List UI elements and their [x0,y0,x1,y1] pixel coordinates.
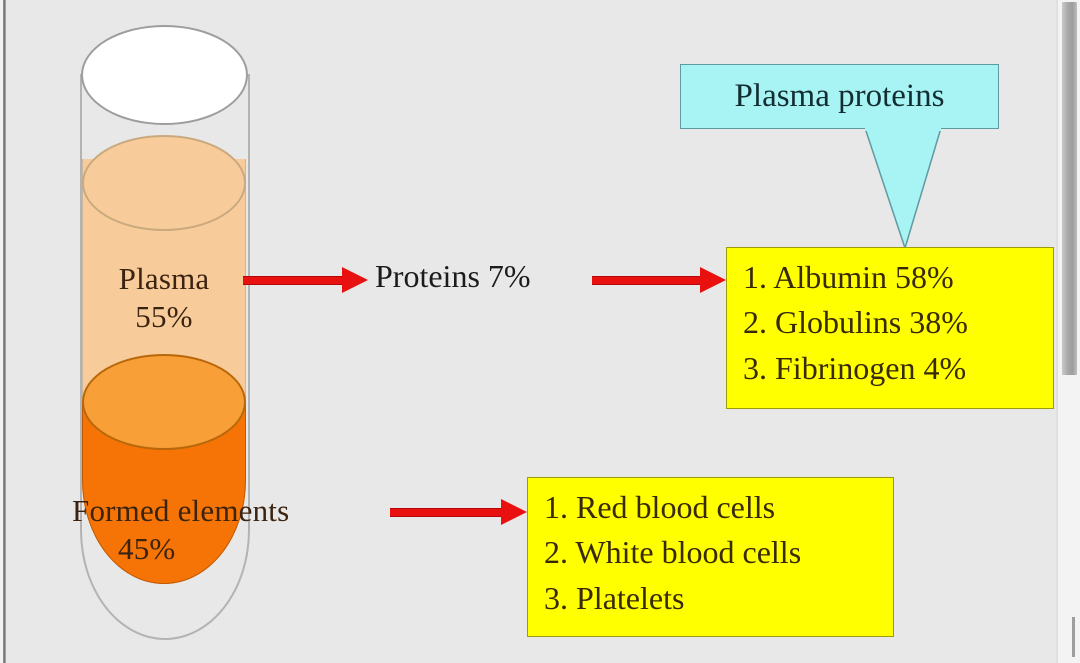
arrow-proteins-to-list [592,273,726,287]
list-item: 3. Platelets [544,576,879,621]
arrow-head-icon [700,267,726,293]
list-item: 2. White blood cells [544,530,879,575]
scrollbar-bottom-marker[interactable] [1072,617,1075,657]
arrow-shaft [592,276,702,285]
arrow-plasma-to-proteins [243,273,368,287]
plasma-proteins-callout-label: Plasma proteins [735,78,945,115]
plasma-label: Plasma [119,261,210,296]
list-item: 2. Globulins 38% [743,300,1039,345]
window-left-edge [3,0,6,663]
formed-elements-surface-ellipse [82,354,246,450]
formed-elements-list-box: 1. Red blood cells 2. White blood cells … [527,477,894,637]
plasma-surface-ellipse [82,135,246,231]
plasma-proteins-callout: Plasma proteins [680,64,999,129]
formed-elements-percent: 45% [118,530,472,568]
formed-elements-label: Formed elements [72,493,289,528]
plasma-proteins-list-box: 1. Albumin 58% 2. Globulins 38% 3. Fibri… [726,247,1054,409]
proteins-percentage-label: Proteins 7% [375,258,531,295]
blood-sample-test-tube: Plasma 55% Formed elements 45% [80,24,250,640]
list-item: 1. Albumin 58% [743,255,1039,300]
vertical-scrollbar-track[interactable] [1058,0,1080,663]
callout-tail-pointer [865,128,941,248]
arrow-head-icon [501,499,527,525]
arrow-shaft [390,508,503,517]
list-item: 1. Red blood cells [544,485,879,530]
arrow-shaft [243,276,343,285]
vertical-scrollbar-thumb[interactable] [1062,2,1077,375]
blood-composition-diagram: Plasma 55% Formed elements 45% Proteins … [0,0,1080,663]
plasma-label-group: Plasma 55% [74,260,254,336]
test-tube-opening-ellipse [81,25,248,125]
arrow-head-icon [342,267,368,293]
formed-elements-label-group: Formed elements 45% [72,492,472,568]
plasma-percent: 55% [135,299,192,334]
list-item: 3. Fibrinogen 4% [743,346,1039,391]
arrow-formed-elements-to-list [390,505,527,519]
